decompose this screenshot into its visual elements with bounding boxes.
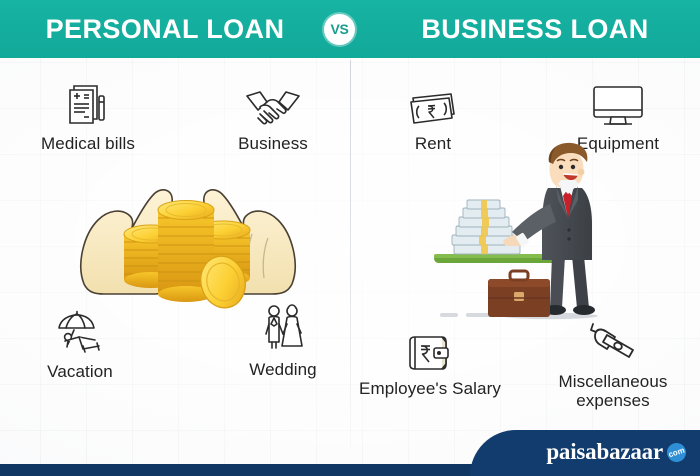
item-label: Medical bills	[13, 134, 163, 153]
paisabazaar-logo[interactable]: paisabazaar com	[546, 439, 686, 465]
desktop-monitor-icon	[533, 80, 700, 128]
brand-wordmark: paisabazaar	[546, 439, 663, 465]
rupee-banknotes-icon	[358, 80, 508, 128]
infographic-root: PERSONAL LOAN BUSINESS LOAN VS Medi	[0, 0, 700, 476]
businessman-illustration	[432, 140, 632, 340]
prescription-document-icon	[13, 80, 163, 128]
item-label: Business	[198, 134, 348, 153]
page-title-left: PERSONAL LOAN	[0, 0, 330, 58]
vs-badge: VS	[324, 14, 355, 45]
header-bar: PERSONAL LOAN BUSINESS LOAN VS	[0, 0, 700, 58]
dotcom-badge-icon: com	[665, 440, 689, 464]
item-label: Wedding	[208, 360, 358, 379]
handshake-icon	[198, 80, 348, 128]
item-label: Miscellaneous expenses	[528, 372, 698, 410]
hands-holding-coins-illustration	[78, 172, 298, 317]
item-business: Business	[198, 80, 348, 153]
item-label: Vacation	[5, 362, 155, 381]
item-label: Employee's Salary	[345, 379, 515, 398]
item-medical-bills: Medical bills	[13, 80, 163, 153]
page-title-right: BUSINESS LOAN	[370, 0, 700, 58]
item-vacation: Vacation	[5, 308, 155, 381]
